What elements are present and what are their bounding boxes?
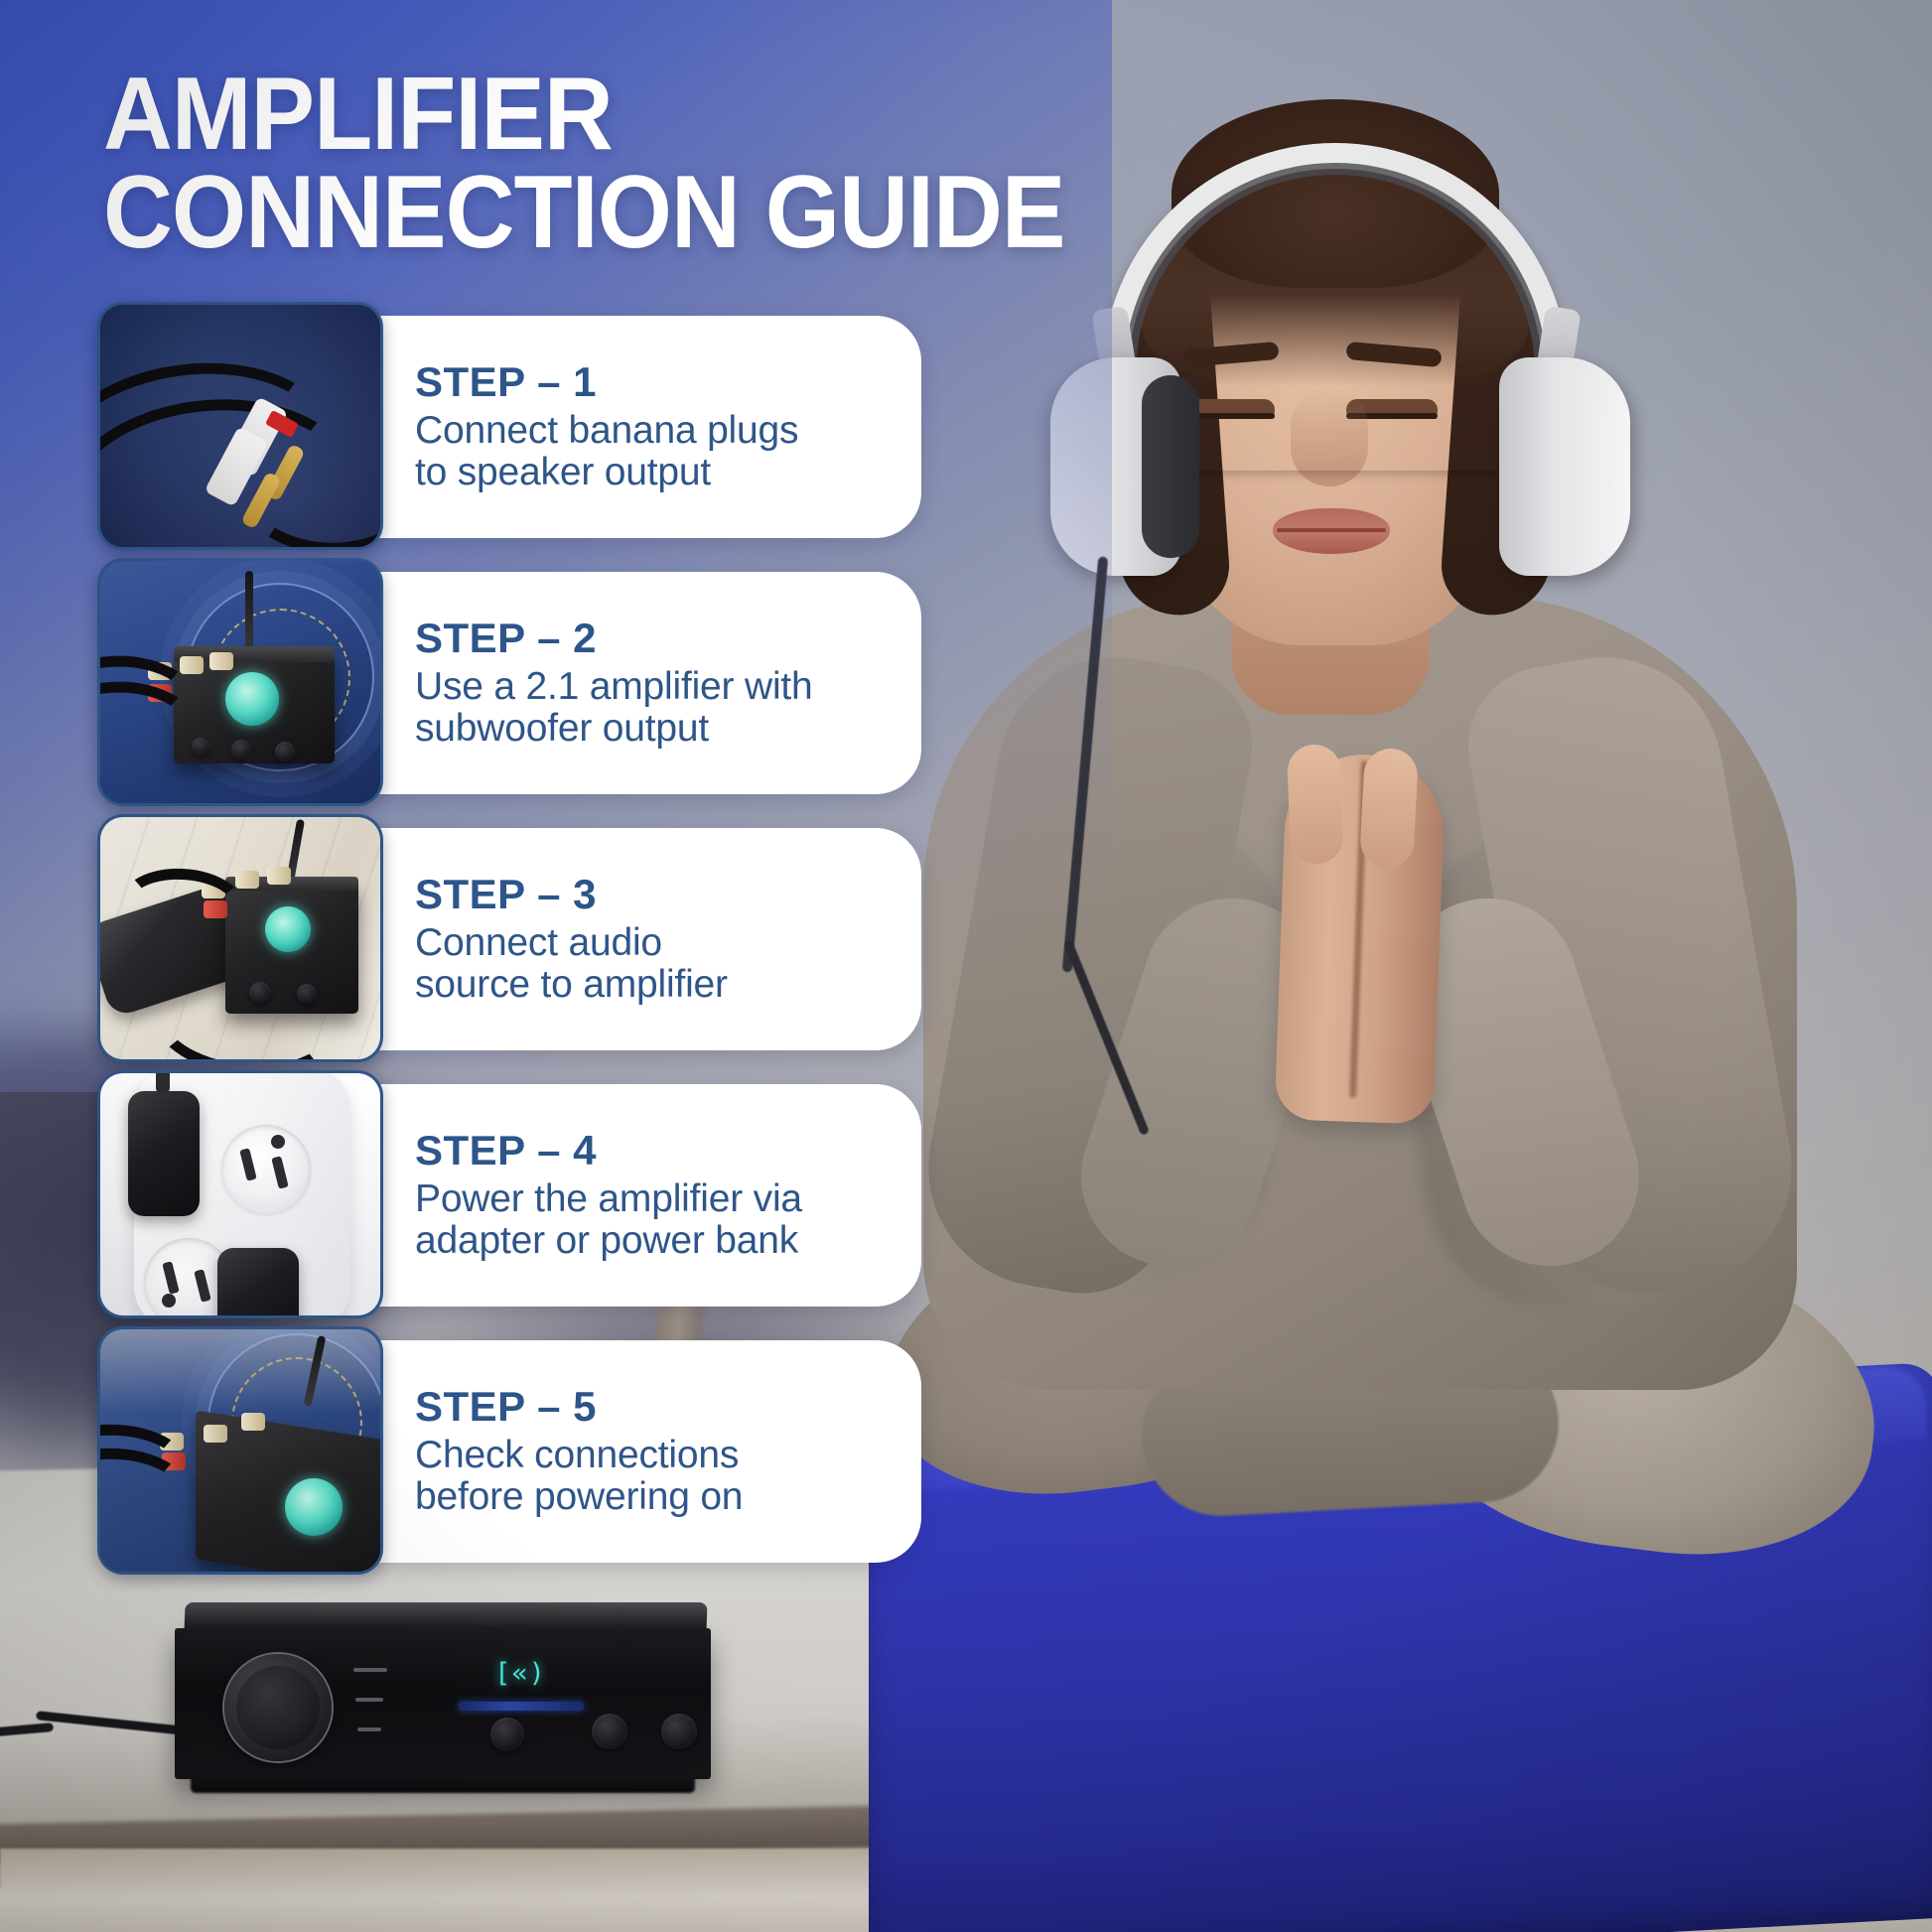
step-5-description: Check connections before powering on [415, 1435, 743, 1518]
step-2-thumbnail [97, 558, 383, 806]
panel-label-tick-2 [355, 1698, 383, 1702]
adapter-1-cable [156, 1070, 170, 1093]
step-3-thumbnail [97, 814, 383, 1062]
step-2-text: STEP – 2 Use a 2.1 amplifier with subwoo… [415, 617, 839, 750]
step-1-text: STEP – 1 Connect banana plugs to speaker… [415, 360, 824, 493]
step-5-text: STEP – 5 Check connections before poweri… [415, 1385, 768, 1518]
page-title: AMPLIFIER CONNECTION GUIDE [103, 66, 1147, 262]
amplifier-logo-badge [265, 906, 311, 952]
input-jack-1 [592, 1714, 627, 1749]
amplifier-logo-badge [225, 672, 279, 726]
amp-front-jack-2 [231, 740, 251, 759]
step-4-description: Power the amplifier via adapter or power… [415, 1178, 802, 1262]
outlet-2-ground [162, 1294, 176, 1308]
step-2-desc-line1: Use a 2.1 amplifier with [415, 666, 813, 708]
power-outlet-1 [221, 1125, 311, 1214]
stereo-amplifier-device: [«) [175, 1602, 711, 1801]
step-3-description: Connect audio source to amplifier [415, 922, 728, 1006]
step-5-desc-line2: before powering on [415, 1476, 743, 1518]
amp-front-jack-2 [297, 984, 317, 1004]
step-3-desc-line2: source to amplifier [415, 964, 728, 1006]
power-adapter-2 [217, 1248, 299, 1318]
step-card-3[interactable]: STEP – 3 Connect audio source to amplifi… [107, 828, 921, 1050]
rca-connector-4 [267, 867, 291, 885]
rca-connector-3 [235, 871, 259, 889]
step-3-label: STEP – 3 [415, 873, 728, 916]
page-title-line2: CONNECTION GUIDE [103, 164, 1147, 262]
rca-connector-3 [204, 1425, 227, 1443]
step-5-desc-line1: Check connections [415, 1435, 743, 1476]
amp-front-jack-1 [249, 982, 271, 1004]
infographic-poster: AMPLIFIER CONNECTION GUIDE STEP – 1 Conn… [0, 0, 1932, 1932]
step-3-desc-line1: Connect audio [415, 922, 728, 964]
step-2-desc-line2: subwoofer output [415, 708, 813, 750]
step-card-1[interactable]: STEP – 1 Connect banana plugs to speaker… [107, 316, 921, 538]
antenna [245, 571, 253, 656]
panel-label-tick-1 [353, 1668, 387, 1672]
step-1-desc-line2: to speaker output [415, 452, 798, 493]
step-2-description: Use a 2.1 amplifier with subwoofer outpu… [415, 666, 813, 750]
step-3-text: STEP – 3 Connect audio source to amplifi… [415, 873, 754, 1006]
amplifier-display: [«) [473, 1658, 568, 1692]
outlet-1-ground [271, 1135, 285, 1149]
step-5-label: STEP – 5 [415, 1385, 743, 1429]
volume-knob [236, 1666, 320, 1749]
headphone-jack [490, 1718, 524, 1751]
step-1-thumbnail [97, 302, 383, 550]
rca-connector-4 [209, 652, 233, 670]
amp-front-jack-1 [192, 738, 209, 756]
steps-list: STEP – 1 Connect banana plugs to speaker… [107, 316, 921, 1596]
panel-label-tick-3 [357, 1727, 381, 1731]
step-4-text: STEP – 4 Power the amplifier via adapter… [415, 1129, 828, 1262]
input-jack-2 [661, 1714, 697, 1749]
amplifier-logo-badge [285, 1478, 343, 1536]
step-card-4[interactable]: STEP – 4 Power the amplifier via adapter… [107, 1084, 921, 1307]
step-card-5[interactable]: STEP – 5 Check connections before poweri… [107, 1340, 921, 1563]
amplifier-display-bar [459, 1702, 584, 1711]
power-adapter-1 [128, 1091, 200, 1216]
step-5-thumbnail [97, 1326, 383, 1575]
step-2-label: STEP – 2 [415, 617, 813, 660]
step-1-description: Connect banana plugs to speaker output [415, 410, 798, 493]
rca-connector-3 [180, 656, 204, 674]
rca-connector-4 [241, 1413, 265, 1431]
amp-front-jack-3 [275, 742, 295, 761]
amplifier-base [191, 1777, 695, 1793]
step-4-label: STEP – 4 [415, 1129, 802, 1173]
step-1-label: STEP – 1 [415, 360, 798, 404]
step-4-desc-line2: adapter or power bank [415, 1220, 802, 1262]
step-1-desc-line1: Connect banana plugs [415, 410, 798, 452]
step-4-desc-line1: Power the amplifier via [415, 1178, 802, 1220]
step-card-2[interactable]: STEP – 2 Use a 2.1 amplifier with subwoo… [107, 572, 921, 794]
step-4-thumbnail [97, 1070, 383, 1318]
